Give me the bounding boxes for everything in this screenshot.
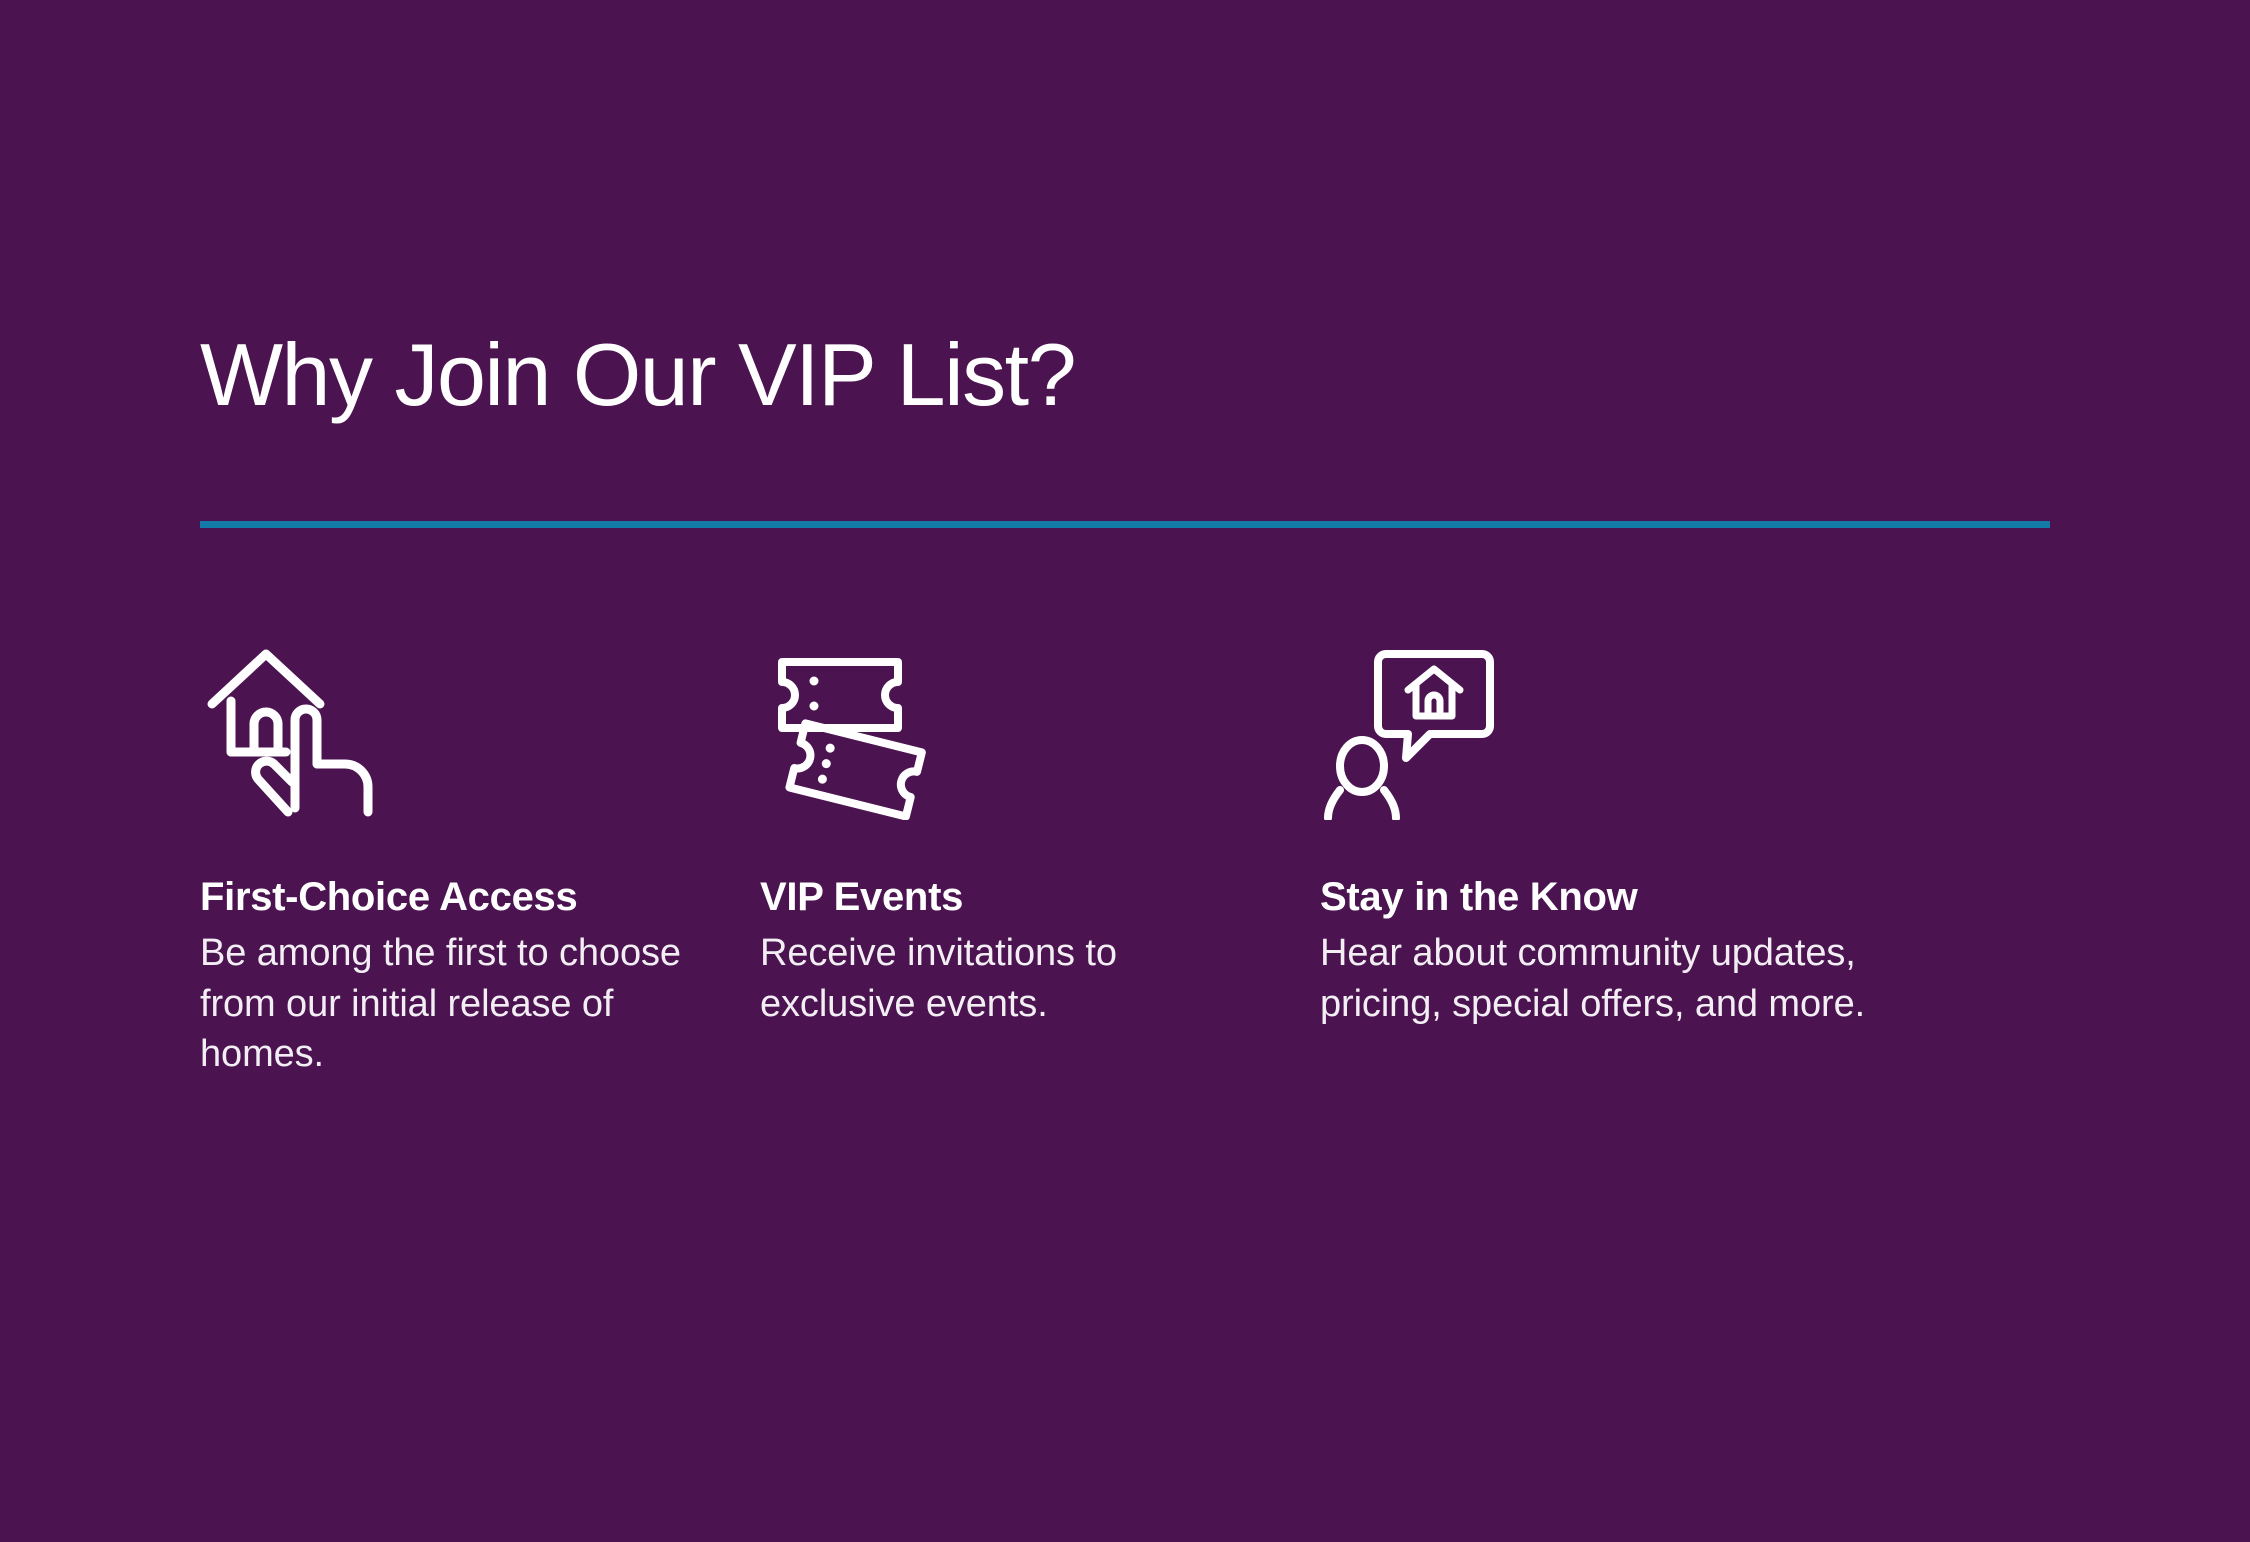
title-divider: [200, 521, 2050, 528]
benefit-body: Be among the first to choose from our in…: [200, 928, 710, 1080]
benefit-body: Hear about community updates, pricing, s…: [1320, 928, 1930, 1029]
benefit-column-vip-events: VIP Events Receive invitations to exclus…: [760, 640, 1320, 1029]
benefits-columns: First-Choice Access Be among the first t…: [200, 640, 2050, 1080]
event-tickets-icon: [760, 640, 940, 820]
benefit-column-first-choice-access: First-Choice Access Be among the first t…: [200, 640, 760, 1080]
benefit-heading: VIP Events: [760, 872, 1270, 922]
vip-benefits-slide: Why Join Our VIP List?: [0, 0, 2250, 1542]
person-speech-bubble-house-icon: [1320, 640, 1500, 820]
benefit-column-stay-in-the-know: Stay in the Know Hear about community up…: [1320, 640, 1930, 1029]
benefit-heading: Stay in the Know: [1320, 872, 1930, 922]
house-pointing-hand-icon: [200, 640, 380, 820]
benefit-body: Receive invitations to exclusive events.: [760, 928, 1270, 1029]
slide-content: Why Join Our VIP List?: [200, 0, 2050, 1542]
page-title: Why Join Our VIP List?: [200, 327, 1075, 422]
benefit-heading: First-Choice Access: [200, 872, 710, 922]
